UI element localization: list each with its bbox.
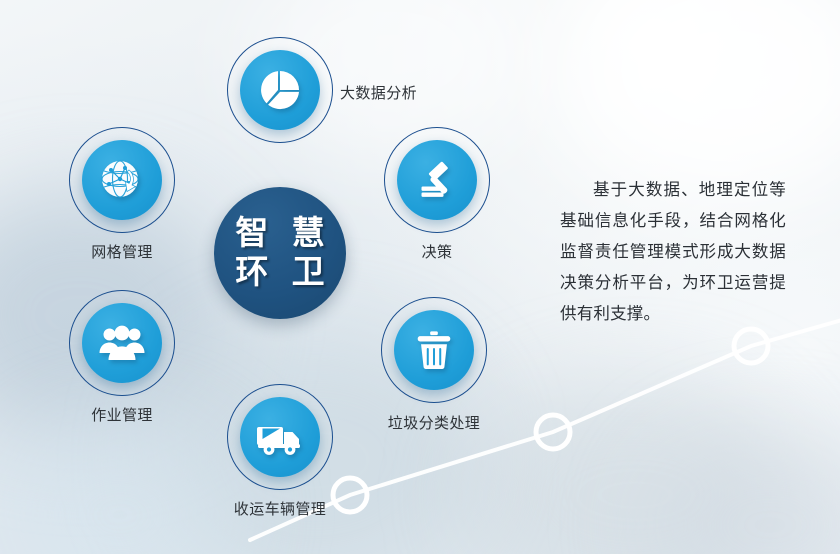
people-group-icon [98,319,146,367]
node-disc[interactable] [82,303,162,383]
node-disc[interactable] [82,140,162,220]
hub-title-line-2: 环 卫 [228,253,331,292]
node-label-big-data-analysis: 大数据分析 [340,82,417,103]
overview-paragraph: 基于大数据、地理定位等基础信息化手段，结合网格化监督责任管理模式形成大数据决策分… [560,175,786,330]
gavel-icon [413,156,461,204]
node-label-operation-management: 作业管理 [22,404,222,425]
node-label-decision: 决策 [337,241,537,262]
node-disc[interactable] [240,397,320,477]
hub-smart-sanitation[interactable]: 智 慧 环 卫 [214,187,346,319]
node-label-grid-management: 网格管理 [22,241,222,262]
node-disc[interactable] [394,310,474,390]
trash-bin-icon [411,327,457,373]
infographic-canvas: 智 慧 环 卫 大数据分析 [0,0,840,554]
node-label-waste-sorting: 垃圾分类处理 [334,412,534,433]
node-disc[interactable] [240,50,320,130]
pie-chart-icon [256,66,304,114]
node-disc[interactable] [397,140,477,220]
garbage-truck-icon [256,413,304,461]
globe-network-icon [98,156,146,204]
hub-title-line-1: 智 慧 [228,214,331,253]
node-label-vehicle-management: 收运车辆管理 [180,498,380,519]
